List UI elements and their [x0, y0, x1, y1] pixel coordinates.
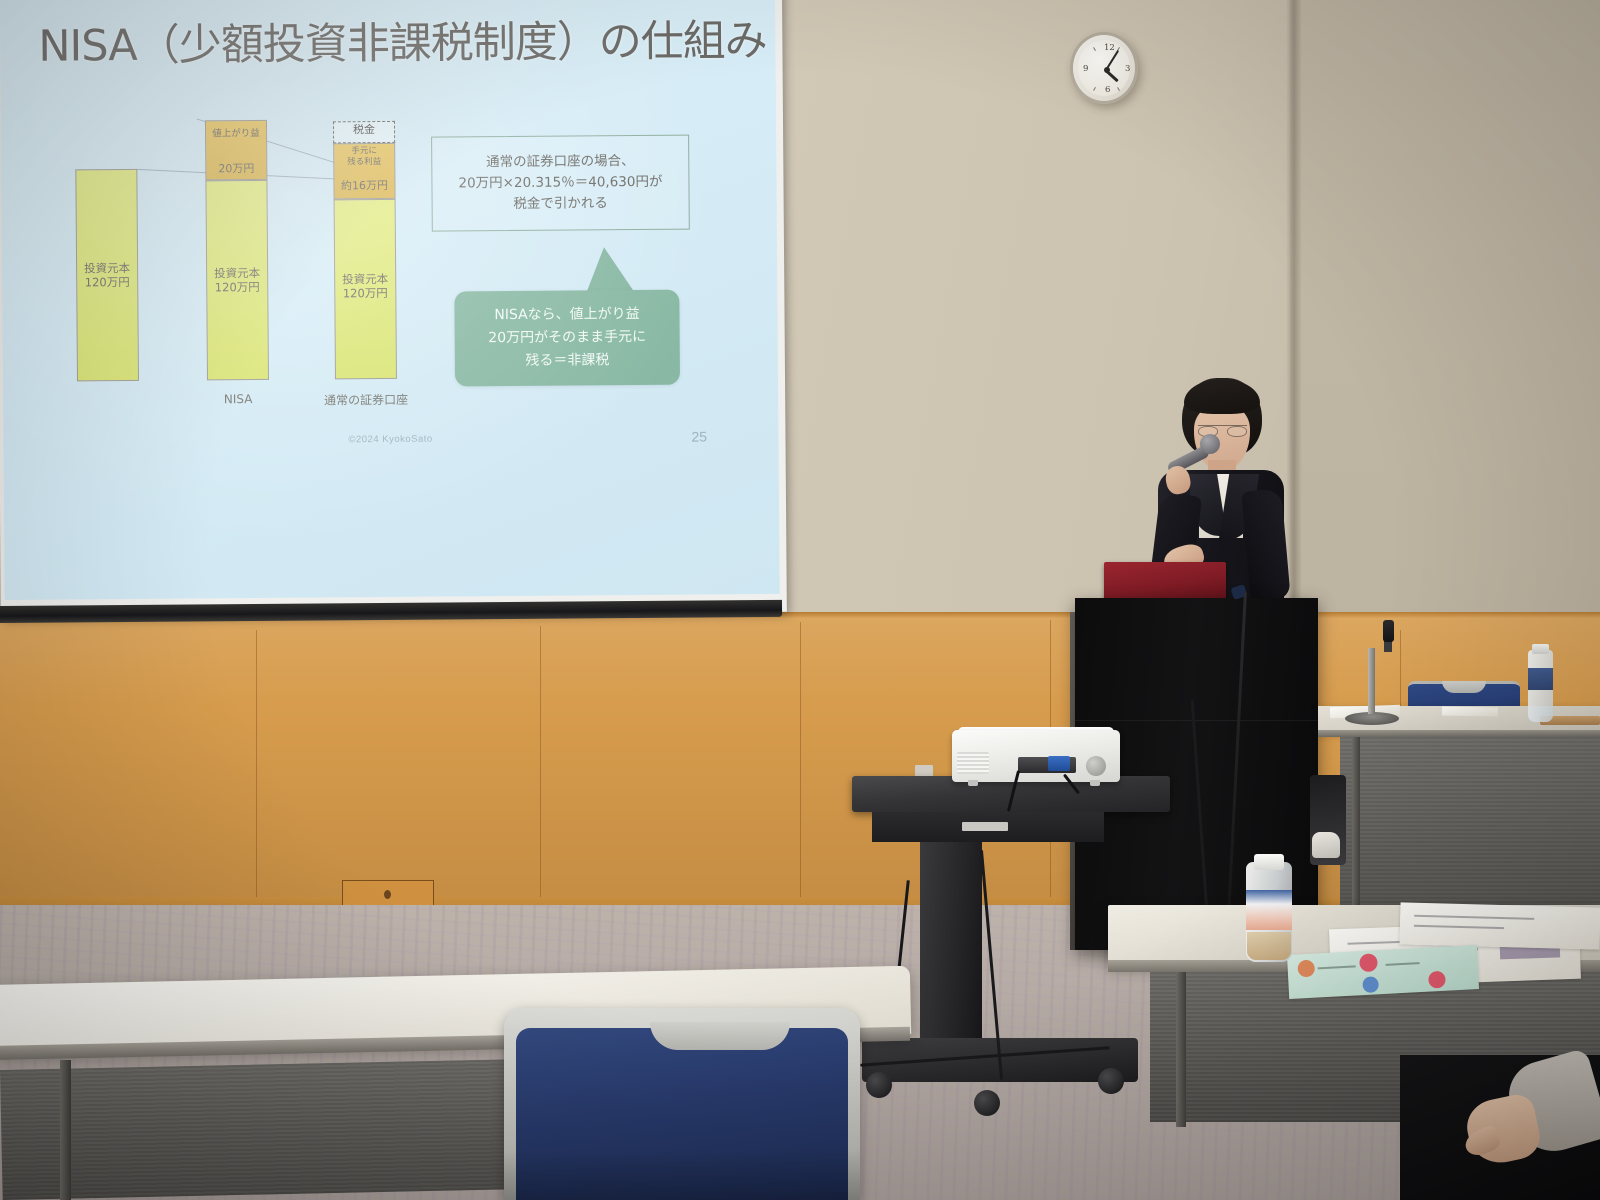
- front-left-table-modesty-panel: [0, 1059, 523, 1200]
- mic-stand-head: [1383, 620, 1394, 642]
- water-bottle-contents: [1247, 932, 1291, 960]
- clock-number-12: 12: [1104, 43, 1115, 53]
- wall-upper-right: [1290, 0, 1600, 640]
- chair-front-left-handle: [650, 1022, 790, 1050]
- handout-text-line: [1414, 915, 1534, 920]
- projector-vent: [957, 752, 989, 774]
- callout-tail: [585, 247, 636, 295]
- clock-tick: [1093, 47, 1096, 51]
- water-bottle-front-label: [1246, 890, 1292, 930]
- flyer-text-line: [1386, 962, 1420, 966]
- side-table-edge: [1318, 730, 1600, 737]
- flyer-text-line: [1318, 965, 1356, 969]
- mic-stand-pole: [1368, 648, 1375, 714]
- water-bottle-label: [1528, 668, 1553, 690]
- bar-segment-principal: [205, 180, 269, 380]
- side-table-modesty-panel: [1340, 737, 1600, 917]
- water-bottle-cap: [1532, 644, 1549, 654]
- handout-text-line: [1414, 925, 1504, 929]
- axis-label-nisa: NISA: [207, 392, 269, 406]
- bar-segment-tax: [333, 121, 395, 143]
- cart-caster-wheel: [1098, 1068, 1124, 1094]
- bar-segment-gain: [205, 120, 267, 180]
- av-cart-column: [920, 842, 982, 1042]
- handout-sheet[interactable]: [1399, 902, 1600, 949]
- bar-segment-principal: [75, 169, 139, 381]
- bar-segment-principal: [334, 199, 397, 379]
- panel-seam: [800, 622, 801, 902]
- microphone-head: [1200, 434, 1220, 454]
- seminar-room-photo: NISA（少額投資非課税制度）の仕組み 投資元本 120万円 値上がり益 20万…: [0, 0, 1600, 1200]
- cart-caster-wheel: [866, 1072, 892, 1098]
- front-left-table-leg: [60, 1060, 71, 1200]
- clock-number-3: 3: [1125, 64, 1130, 74]
- flyer-badge-red: [1359, 953, 1378, 972]
- presenter-fringe: [1184, 380, 1260, 414]
- podium-seam: [1075, 720, 1318, 721]
- panel-seam: [256, 630, 257, 900]
- front-right-table-leg: [1176, 972, 1186, 1127]
- flyer-badge-blue: [1362, 976, 1379, 993]
- slide-page-number: 25: [691, 428, 707, 444]
- axis-label-taxable: 通常の証券口座: [307, 391, 425, 409]
- water-bottle-front-cap: [1254, 854, 1284, 870]
- callout-bubble: NISAなら、値上がり益 20万円がそのまま手元に 残る＝非課税: [454, 290, 680, 387]
- info-box-text: 通常の証券口座の場合、 20万円×20.315％＝40,630円が 税金で引かれ…: [458, 151, 662, 215]
- flyer-badge-orange: [1297, 960, 1315, 978]
- wall-clock-icon: 12 3 6 9: [1070, 32, 1138, 104]
- shoe-under-table: [1312, 832, 1340, 858]
- av-cart-asset-label: [962, 822, 1008, 831]
- slide-title: NISA（少額投資非課税制度）の仕組み: [38, 16, 738, 72]
- clock-tick: [1093, 87, 1096, 91]
- cart-caster-wheel: [974, 1090, 1000, 1116]
- clock-tick: [1117, 87, 1120, 91]
- side-table-leg: [1352, 737, 1360, 917]
- clock-center-pin: [1104, 67, 1110, 73]
- projector-foot: [1090, 780, 1100, 786]
- slide-footer-copyright: ©2024 KyokoSato: [348, 434, 432, 446]
- clock-face: 12 3 6 9: [1078, 40, 1130, 96]
- callout-text: NISAなら、値上がり益 20万円がそのまま手元に 残る＝非課税: [488, 303, 646, 372]
- clock-number-6: 6: [1105, 85, 1110, 95]
- projector-foot: [968, 780, 978, 786]
- clock-number-9: 9: [1083, 64, 1088, 74]
- chair-shadow: [504, 1150, 860, 1200]
- bar-segment-net-gain: [333, 143, 395, 199]
- wall-outlet-icon: [384, 890, 391, 899]
- chair-handle-notch: [1442, 681, 1486, 693]
- projector-lens: [1086, 756, 1106, 776]
- glasses-lens-right: [1227, 426, 1247, 437]
- projector-vga-connector[interactable]: [1048, 756, 1070, 771]
- paper-on-side-table[interactable]: [1442, 707, 1498, 717]
- info-box: 通常の証券口座の場合、 20万円×20.315％＝40,630円が 税金で引かれ…: [431, 135, 690, 232]
- flyer-badge-red: [1428, 971, 1446, 989]
- projected-slide: NISA（少額投資非課税制度）の仕組み 投資元本 120万円 値上がり益 20万…: [0, 0, 780, 600]
- panel-seam: [540, 626, 541, 902]
